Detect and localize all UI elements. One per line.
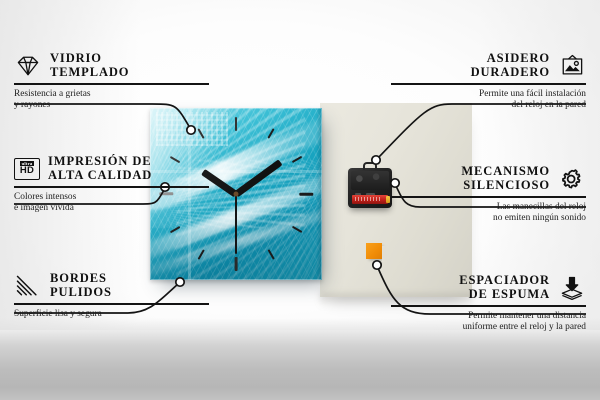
feature-divider [14,303,209,305]
feature-bordes-pulidos: BORDES PULIDOS Superficie lisa y segura [14,272,209,320]
feature-vidrio-templado: VIDRIO TEMPLADO Resistencia a grietas y … [14,52,209,111]
ultra-hd-icon-hd: HD [20,166,34,176]
feature-title: IMPRESIÓN DE ALTA CALIDAD [48,155,152,182]
feature-title-line2: DURADERO [471,66,550,80]
spacer-arrow-icon [558,275,586,301]
feature-title-line1: ASIDERO [471,52,550,66]
feature-divider [391,196,586,198]
feature-title-line1: ESPACIADOR [459,274,550,288]
feature-title-line1: MECANISMO [461,165,550,179]
feature-header: VIDRIO TEMPLADO [14,52,209,79]
feature-title: ASIDERO DURADERO [471,52,550,79]
feature-desc-line1: Colores intensos [14,192,209,203]
artwork-pixel-block [156,112,228,146]
feature-divider [391,305,586,307]
feature-divider [14,186,209,188]
mechanism-body-face [351,171,389,190]
feature-title-line1: IMPRESIÓN DE [48,155,152,169]
floor-surface [0,330,600,400]
feature-asidero-duradero: ASIDERO DURADERO Permite una fácil insta… [391,52,586,111]
feature-impresion-alta-calidad: ultra HD IMPRESIÓN DE ALTA CALIDAD Color… [14,155,209,214]
feature-header: MECANISMO SILENCIOSO [391,165,586,192]
ultra-hd-icon: ultra HD [14,158,40,180]
feature-header: ultra HD IMPRESIÓN DE ALTA CALIDAD [14,155,209,182]
feature-description: Permite mantener una distancia uniforme … [391,311,586,334]
feature-espaciador-de-espuma: ESPACIADOR DE ESPUMA Permite mantener un… [391,274,586,333]
feature-desc-line2: no emiten ningún sonido [391,213,586,224]
feature-desc-line2: e imagen vívida [14,203,209,214]
gear-icon [558,166,586,192]
feature-header: ASIDERO DURADERO [391,52,586,79]
feature-description: Superficie lisa y segura [14,309,209,320]
feature-title-line1: BORDES [50,272,112,286]
clock-second-hand [235,194,237,254]
wall-hanger-icon [558,53,586,79]
mechanism-hanger-tab [363,162,377,170]
feature-title: BORDES PULIDOS [50,272,112,299]
feature-description: Resistencia a grietas y rayones [14,89,209,112]
clock-tick [299,193,313,196]
feature-title: ESPACIADOR DE ESPUMA [459,274,550,301]
feature-title-line1: VIDRIO [50,52,129,66]
diamond-icon [14,53,42,79]
feature-mecanismo-silencioso: MECANISMO SILENCIOSO Las manecillas del … [391,165,586,224]
clock-tick [235,117,238,131]
feature-description: Colores intensos e imagen vívida [14,192,209,215]
feature-desc-line1: Permite mantener una distancia [391,311,586,322]
feature-title-line2: PULIDOS [50,286,112,300]
clock-tick [235,257,238,271]
feature-title-line2: TEMPLADO [50,66,129,80]
feature-desc-line2: y rayones [14,100,209,111]
feature-desc-line2: uniforme entre el reloj y la pared [391,322,586,333]
feature-description: Las manecillas del reloj no emiten ningú… [391,202,586,225]
battery [352,195,388,204]
feature-title: VIDRIO TEMPLADO [50,52,129,79]
feature-divider [391,83,586,85]
feature-header: ESPACIADOR DE ESPUMA [391,274,586,301]
battery-label [355,197,382,201]
infographic-canvas: VIDRIO TEMPLADO Resistencia a grietas y … [0,0,600,400]
feature-divider [14,83,209,85]
foam-spacer [366,243,382,259]
clock-center-hub [234,192,239,197]
feature-title: MECANISMO SILENCIOSO [461,165,550,192]
feature-desc-line1: Resistencia a grietas [14,89,209,100]
feature-desc-line1: Las manecillas del reloj [391,202,586,213]
feature-title-line2: SILENCIOSO [461,179,550,193]
feature-desc-line1: Superficie lisa y segura [14,309,209,320]
feature-title-line2: ALTA CALIDAD [48,169,152,183]
feature-desc-line2: del reloj en la pared [391,100,586,111]
feature-desc-line1: Permite una fácil instalación [391,89,586,100]
feature-description: Permite una fácil instalación del reloj … [391,89,586,112]
feature-header: BORDES PULIDOS [14,272,209,299]
feature-title-line2: DE ESPUMA [459,288,550,302]
polished-edges-icon [14,273,42,299]
clock-mechanism [348,168,392,208]
